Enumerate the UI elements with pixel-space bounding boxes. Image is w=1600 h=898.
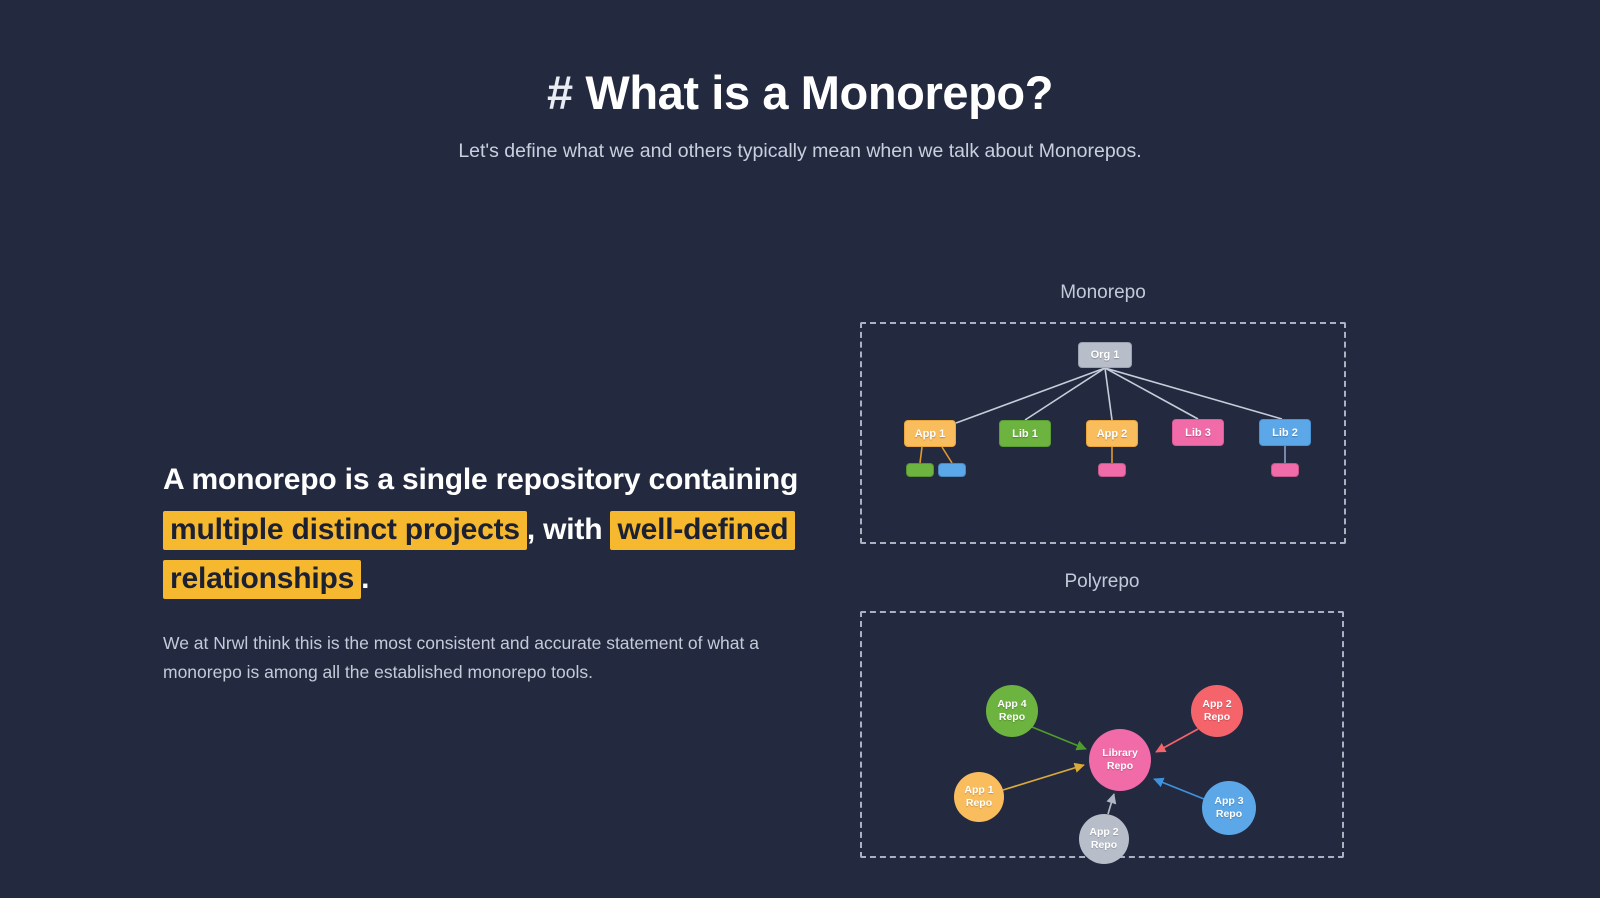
- hash-symbol: #: [547, 66, 573, 119]
- circle-app-4-repo-line1: App 4: [997, 698, 1026, 711]
- node-app-1-label: App 1: [915, 428, 946, 440]
- polyrepo-caption: Polyrepo: [860, 572, 1344, 591]
- node-org-1-label: Org 1: [1091, 349, 1120, 361]
- node-lib-2[interactable]: Lib 2: [1259, 419, 1311, 446]
- circle-app-1-repo[interactable]: App 1 Repo: [954, 772, 1004, 822]
- page-title: # What is a Monorepo?: [0, 66, 1600, 120]
- page-title-text: What is a Monorepo?: [585, 66, 1053, 119]
- monorepo-definition-statement: A monorepo is a single repository contai…: [163, 455, 803, 604]
- page-subtitle: Let's define what we and others typicall…: [0, 139, 1600, 164]
- edge-app1-child2: [942, 447, 952, 463]
- edge-org-lib1: [1025, 368, 1105, 420]
- node-app-2[interactable]: App 2: [1086, 420, 1138, 447]
- node-lib-3[interactable]: Lib 3: [1172, 419, 1224, 446]
- mini-node-pink-lib2[interactable]: [1271, 463, 1299, 477]
- page-header: # What is a Monorepo? Let's define what …: [0, 66, 1600, 164]
- monorepo-diagram-block: Monorepo Org 1: [860, 283, 1346, 544]
- arrow-app1-to-library: [1003, 765, 1084, 790]
- node-lib-2-label: Lib 2: [1272, 427, 1298, 439]
- polyrepo-frame: App 4 Repo App 2 Repo Library Repo App 1…: [860, 611, 1344, 858]
- circle-app-1-repo-line2: Repo: [966, 797, 992, 810]
- circle-app-2-repo-red[interactable]: App 2 Repo: [1191, 685, 1243, 737]
- arrow-app4-to-library: [1032, 727, 1086, 749]
- circle-app-3-repo-line1: App 3: [1214, 795, 1243, 808]
- circle-app-2-repo-gray-line1: App 2: [1089, 826, 1118, 839]
- circle-app-3-repo-line2: Repo: [1216, 808, 1242, 821]
- supporting-note: We at Nrwl think this is the most consis…: [163, 629, 778, 687]
- circle-app-1-repo-line1: App 1: [964, 784, 993, 797]
- circle-app-2-repo-red-line2: Repo: [1204, 711, 1230, 724]
- left-content-column: A monorepo is a single repository contai…: [163, 455, 803, 687]
- monorepo-caption: Monorepo: [860, 283, 1346, 302]
- statement-highlight-1: multiple distinct projects: [163, 511, 527, 550]
- edge-org-app2: [1105, 368, 1112, 420]
- circle-library-repo-line1: Library: [1102, 747, 1138, 760]
- arrow-app2red-to-library: [1156, 729, 1198, 752]
- circle-app-4-repo[interactable]: App 4 Repo: [986, 685, 1038, 737]
- node-org-1[interactable]: Org 1: [1078, 342, 1132, 368]
- circle-app-2-repo-gray-line2: Repo: [1091, 839, 1117, 852]
- circle-app-2-repo-gray[interactable]: App 2 Repo: [1079, 814, 1129, 864]
- mini-node-green[interactable]: [906, 463, 934, 477]
- circle-library-repo[interactable]: Library Repo: [1089, 729, 1151, 791]
- node-app-2-label: App 2: [1097, 428, 1128, 440]
- edge-org-lib3: [1105, 368, 1198, 419]
- node-lib-1-label: Lib 1: [1012, 428, 1038, 440]
- edge-org-lib2: [1105, 368, 1282, 419]
- page-root: # What is a Monorepo? Let's define what …: [0, 0, 1600, 898]
- arrow-app3-to-library: [1154, 779, 1204, 799]
- polyrepo-diagram-block: Polyrepo: [860, 572, 1344, 858]
- mini-node-blue[interactable]: [938, 463, 966, 477]
- node-lib-1[interactable]: Lib 1: [999, 420, 1051, 447]
- circle-library-repo-line2: Repo: [1107, 760, 1133, 773]
- node-app-1[interactable]: App 1: [904, 420, 956, 447]
- monorepo-frame: Org 1 App 1 Lib 1 App 2 Lib 3 Lib 2: [860, 322, 1346, 544]
- arrow-app2gray-to-library: [1108, 794, 1114, 814]
- statement-part-2: , with: [527, 513, 611, 546]
- circle-app-3-repo[interactable]: App 3 Repo: [1202, 781, 1256, 835]
- circle-app-4-repo-line2: Repo: [999, 711, 1025, 724]
- statement-part-1: A monorepo is a single repository contai…: [163, 463, 798, 496]
- node-lib-3-label: Lib 3: [1185, 427, 1211, 439]
- edge-org-app1: [956, 368, 1105, 423]
- circle-app-2-repo-red-line1: App 2: [1202, 698, 1231, 711]
- statement-part-3: .: [361, 562, 369, 595]
- edge-app1-child1: [920, 447, 922, 463]
- mini-node-pink-app2[interactable]: [1098, 463, 1126, 477]
